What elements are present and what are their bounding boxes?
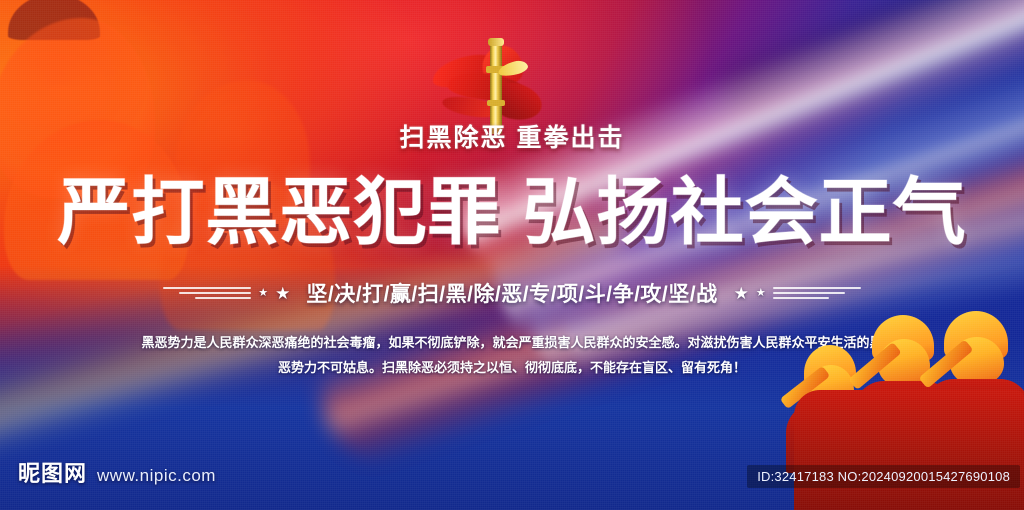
decoration-lines-left xyxy=(163,287,251,299)
footer-brand[interactable]: 昵图网 www.nipic.com xyxy=(18,456,216,488)
poster-headline: 严打黑恶犯罪 弘扬社会正气 xyxy=(0,176,1024,249)
poster-slogan: 坚/决/打/赢/扫/黑/除/恶/专/项/斗/争/攻/坚/战 xyxy=(306,278,717,308)
poster-banner: 扫黑除恶 重拳出击 严打黑恶犯罪 弘扬社会正气 ★ ★ 坚/决/打/赢/扫/黑/… xyxy=(0,0,1024,510)
star-icon: ★ xyxy=(275,285,290,302)
huabiao-top-icon xyxy=(488,38,504,46)
poster-subtitle: 扫黑除恶 重拳出击 xyxy=(0,118,1024,154)
officers-base-block xyxy=(794,390,1024,510)
deco-line xyxy=(179,292,251,294)
saluting-officers-silhouette xyxy=(794,293,1024,468)
image-id-tag: ID:32417183 NO:20240920015427690108 xyxy=(747,465,1020,488)
deco-line xyxy=(195,297,251,299)
huabiao-ring-lower-icon xyxy=(487,100,505,106)
star-icon: ★ xyxy=(756,288,766,299)
deco-line xyxy=(773,287,861,289)
star-icon: ★ xyxy=(258,288,268,299)
star-icon: ★ xyxy=(734,285,749,302)
brand-url[interactable]: www.nipic.com xyxy=(97,466,216,486)
brand-name-cn: 昵图网 xyxy=(18,456,87,488)
decoration-left: ★ ★ xyxy=(163,285,290,302)
deco-line xyxy=(163,287,251,289)
